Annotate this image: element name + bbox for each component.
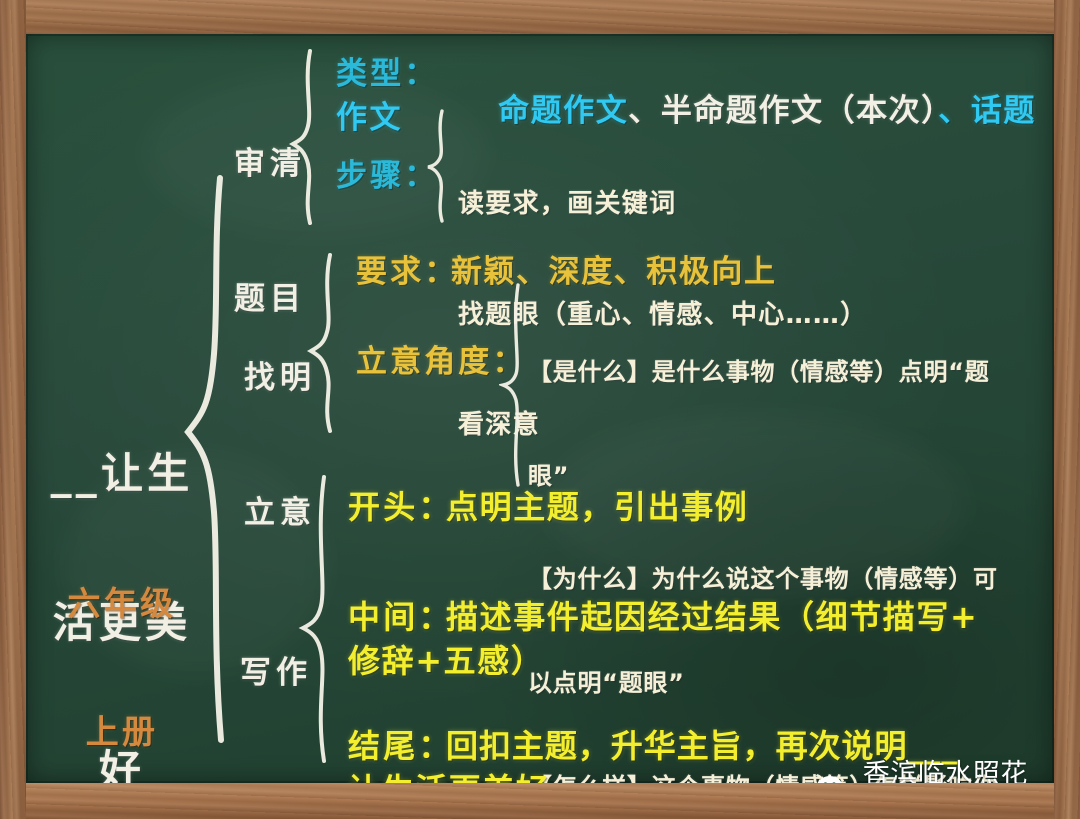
chalkboard-surface: __让生 活更美 好 六年级 上册 第三单元 作文 审清 题目 类型： 命题作文… bbox=[26, 34, 1054, 783]
section-label-line: 找明 bbox=[244, 356, 339, 401]
row-value-leixing-wrap: 作文 bbox=[336, 100, 403, 137]
page-subtitle-line: 六年级 bbox=[32, 583, 212, 626]
page-subtitle-line: 上册 bbox=[32, 711, 212, 754]
row-key-zhongjian: 中间： bbox=[348, 599, 454, 637]
leixing-run: 话题 bbox=[971, 93, 1036, 129]
row-key-liyi-jiaodu: 立意角度： bbox=[356, 344, 527, 381]
section-label-xiezuo-silu: 写作 思路 bbox=[240, 561, 335, 783]
page-title-line: __让生 bbox=[32, 449, 212, 499]
frame-bottom-rail bbox=[0, 783, 1080, 819]
row-value-zhongjian: 描述事件起因经过结果（细节描写+ bbox=[446, 599, 978, 637]
list-item: 读要求，画关键词 bbox=[458, 186, 868, 223]
list-item: 【是什么】是什么事物（情感等）点明“题 bbox=[528, 355, 998, 390]
watermark: 香滨临水照花人 bbox=[816, 752, 1054, 783]
row-key-buzhou: 步骤： bbox=[336, 158, 438, 195]
section-label-line: 立意 bbox=[244, 491, 339, 536]
watermark-text: 香滨临水照花人 bbox=[863, 752, 1054, 783]
row-value-zhongjian-wrap: 修辞+五感） bbox=[348, 643, 544, 681]
row-value-jiewei-wrap: 让生活更美好 bbox=[348, 772, 550, 783]
chalkboard-slide: __让生 活更美 好 六年级 上册 第三单元 作文 审清 题目 类型： 命题作文… bbox=[0, 0, 1080, 819]
list-item: 以点明“题眼” bbox=[528, 666, 998, 701]
leixing-run: 、 bbox=[938, 93, 971, 129]
frame-top-rail bbox=[0, 0, 1080, 34]
section-label-line: 写作 bbox=[240, 651, 335, 696]
frame-left-rail bbox=[0, 0, 26, 819]
list-item: 【为什么】为什么说这个事物（情感等）可 bbox=[528, 562, 998, 597]
row-value-kaitou: 点明主题，引出事例 bbox=[446, 489, 748, 527]
row-key-yaoqiu: 要求： bbox=[356, 254, 458, 291]
section-label-line: 审清 bbox=[234, 142, 329, 187]
frame-right-rail bbox=[1054, 0, 1080, 819]
row-key-jiewei: 结尾： bbox=[348, 728, 454, 766]
row-key-leixing: 类型： bbox=[336, 56, 438, 93]
list-liyi-jiaodu: 【是什么】是什么事物（情感等）点明“题 眼” 【为什么】为什么说这个事物（情感等… bbox=[528, 286, 998, 783]
row-key-kaitou: 开头： bbox=[348, 489, 454, 527]
wechat-icon bbox=[816, 774, 854, 783]
page-subtitle: 六年级 上册 第三单元 作文 bbox=[32, 497, 212, 783]
